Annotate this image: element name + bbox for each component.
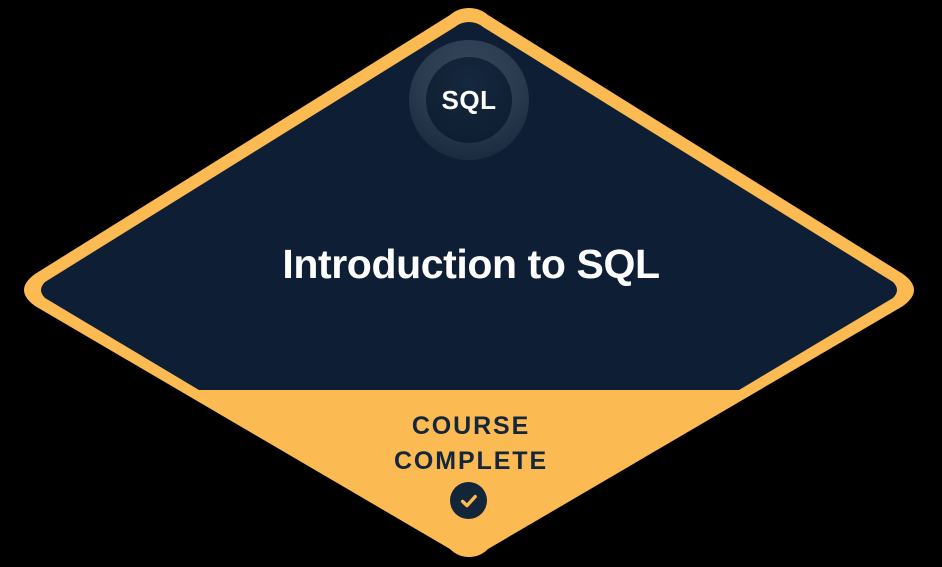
course-completion-badge[interactable]: SQL Introduction to SQL COURSE COMPLETE (0, 0, 942, 567)
completion-status: COURSE COMPLETE (0, 409, 942, 479)
course-title: Introduction to SQL (0, 243, 942, 286)
status-line-course: COURSE (0, 409, 942, 444)
check-circle-icon (450, 482, 487, 519)
check-mark-icon (458, 490, 480, 512)
status-line-complete: COMPLETE (0, 444, 942, 479)
subject-emblem-label: SQL (442, 87, 497, 113)
sql-subject-emblem[interactable]: SQL (409, 40, 529, 160)
